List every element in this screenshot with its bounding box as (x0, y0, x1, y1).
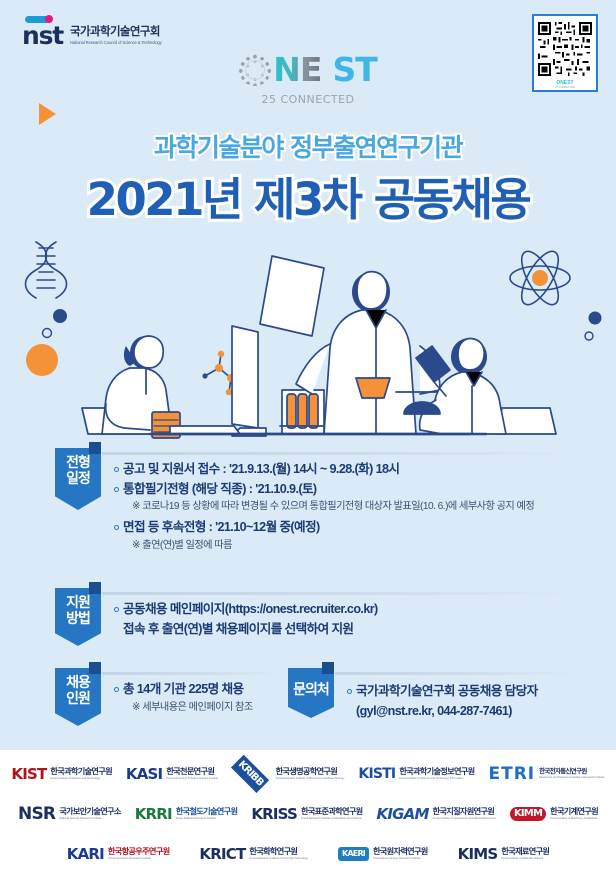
partner-logo: NSR국가보안기술연구소National Security Research I… (18, 806, 121, 823)
poster-canvas: nst 국가과학기술연구회 National Research Council … (0, 0, 616, 875)
ribbon-line1: 지원 (55, 595, 101, 611)
poster-subtitle: 과학기술분야 정부출연연구기관 (0, 128, 616, 164)
partner-abbr: KISTI (358, 767, 395, 781)
note-text: ※ 세부내용은 메인페이지 참조 (132, 700, 294, 716)
partner-abbr: KIMM (510, 807, 546, 821)
list-item-text: 공고 및 지원서 접수 : '21.9.13.(월) 14시 ~ 9.28.(화… (123, 460, 399, 480)
partner-abbr: KASI (126, 767, 162, 782)
logo-row-1: KIST한국과학기술연구원Korea Institute of Science … (0, 754, 616, 794)
bullet-icon (114, 687, 119, 692)
ribbon-badge-headcount: 채용 인원 (55, 668, 101, 726)
nst-wordmark: nst (22, 25, 63, 46)
laboratory-scientists-illustration (0, 228, 616, 440)
logo-row-2: NSR국가보안기술연구소National Security Research I… (0, 794, 616, 834)
qr-code-icon (538, 20, 592, 78)
section-divider (102, 672, 282, 675)
onest-dotted-circle-icon (239, 54, 271, 86)
nst-en-title: National Research Council of Science & T… (70, 40, 162, 45)
partner-abbr: KIMS (458, 847, 498, 862)
partner-abbr: KARI (67, 847, 104, 862)
qr-code-box[interactable]: ONEST 25 CONNECTED (532, 14, 598, 92)
apply-items: 공동채용 메인페이지(https://onest.recruiter.co.kr… (114, 600, 574, 639)
ribbon-line1: 채용 (55, 675, 101, 691)
qr-caption-sub: 25 CONNECTED (538, 86, 592, 89)
onest-ne-text: NE (273, 50, 321, 89)
section-divider (102, 592, 575, 595)
partner-abbr: NSR (18, 806, 55, 823)
partner-logo: KISTI한국과학기술정보연구원Korea Institute of Scien… (358, 767, 474, 781)
list-item-text: 통합필기전형 (해당 직종) : '21.10.9.(토) (123, 480, 317, 500)
partner-en: Korea Atomic Energy Research Institute (373, 857, 428, 860)
partner-logo: KASI한국천문연구원Korea Astronomy & Space Scien… (126, 767, 218, 782)
list-item-text: 총 14개 기관 225명 채용 (123, 680, 244, 700)
partner-en: Korea Institute of Science and Technolog… (50, 777, 112, 780)
partner-abbr: KRISS (251, 807, 297, 822)
poster-title: 2021년 제3차 공동채용 (0, 163, 616, 228)
ribbon-line2: 일정 (55, 471, 101, 487)
partner-abbr: KIST (11, 767, 46, 782)
partner-logo: KARI한국항공우주연구원Korea Aerospace Research In… (67, 847, 170, 862)
bullet-icon (114, 607, 119, 612)
play-triangle-icon (39, 103, 56, 125)
partner-logo: KIMS한국재료연구원Korea Institute of Materials … (458, 847, 550, 862)
partner-en: Korea Research Institute of Standards an… (301, 817, 363, 820)
note-text: ※ 코로나19 등 상황에 따라 변경될 수 있으며 통합필기전형 대상자 발표… (132, 499, 574, 515)
partner-abbr: ETRI (488, 766, 535, 783)
partner-abbr: KIGAM (377, 807, 429, 822)
partner-logo: KIMM한국기계연구원Korea Institute of Machinery … (510, 807, 598, 821)
logo-row-3: KARI한국항공우주연구원Korea Aerospace Research In… (0, 834, 616, 874)
apply-url-text[interactable]: 공동채용 메인페이지(https://onest.recruiter.co.kr… (123, 600, 378, 620)
partner-logo: KRRI한국철도기술연구원Korea Railroad Research Ins… (135, 807, 238, 822)
partner-en: Korea Railroad Research Institute (176, 817, 238, 820)
partner-en: Korea Institute of Science and Technolog… (399, 777, 474, 780)
bullet-icon (114, 467, 119, 472)
ribbon-badge-contact: 문의처 (288, 668, 334, 718)
partner-en: National Security Research Institute (59, 817, 121, 820)
partner-logo: KRICT한국화학연구원Korea Research Institute of … (199, 847, 308, 862)
nst-korean-name: 국가과학기술연구회 National Research Council of S… (70, 23, 162, 46)
partner-en: Electronics and Telecommunications Resea… (539, 776, 605, 779)
contact-details-text[interactable]: (gyl@nst.re.kr, 044-287-7461) (356, 702, 577, 722)
nst-kr-title: 국가과학기술연구회 (70, 23, 162, 39)
onest-tagline: 25 CONNECTED (0, 93, 616, 106)
partner-en: Korea Astronomy & Space Science Institut… (166, 777, 218, 780)
list-item: 면접 등 후속전형 : '21.10~12월 중(예정) (114, 518, 574, 538)
ribbon-badge-apply: 지원 방법 (55, 588, 101, 646)
partner-en: Korea Institute of Machinery & Materials (550, 817, 598, 820)
nst-pill-icon (25, 16, 51, 23)
bullet-icon (114, 487, 119, 492)
ribbon-badge-schedule: 전형 일정 (55, 448, 101, 510)
partner-logo: KRISS한국표준과학연구원Korea Research Institute o… (251, 807, 362, 822)
bullet-icon (347, 689, 352, 694)
ribbon-line1: 전형 (55, 455, 101, 471)
schedule-items: 공고 및 지원서 접수 : '21.9.13.(월) 14시 ~ 9.28.(화… (114, 460, 574, 554)
partner-abbr: KRRI (135, 807, 172, 822)
list-item-text: 면접 등 후속전형 : '21.10~12월 중(예정) (123, 518, 320, 538)
ribbon-line1: 문의처 (288, 682, 334, 698)
ribbon-line2: 인원 (55, 691, 101, 707)
molecule-icon (205, 354, 231, 392)
nst-mark: nst (22, 16, 63, 46)
list-item[interactable]: 공동채용 메인페이지(https://onest.recruiter.co.kr… (114, 600, 574, 620)
onest-wordmark: NE ST (239, 50, 376, 89)
ribbon-line2: 방법 (55, 611, 101, 627)
list-item-text: 국가과학기술연구회 공동채용 담당자 (356, 682, 538, 702)
partner-logo: KIST한국과학기술연구원Korea Institute of Science … (11, 767, 112, 782)
nst-logo: nst 국가과학기술연구회 National Research Council … (22, 16, 162, 46)
partner-en: Korea Institute of Materials Science (501, 857, 549, 860)
partner-logos-footer: KIST한국과학기술연구원Korea Institute of Science … (0, 750, 616, 875)
partner-en: Korea Research Institute of Bioscience a… (276, 777, 345, 780)
list-item: 통합필기전형 (해당 직종) : '21.10.9.(토) (114, 480, 574, 500)
partner-abbr: KRIBB (231, 755, 269, 793)
partner-abbr: KRICT (199, 847, 245, 862)
partner-abbr: KAERI (338, 847, 369, 861)
partner-logo: KIGAM한국지질자원연구원Korea Institute of Geoscie… (377, 807, 496, 822)
list-item: 총 14개 기관 225명 채용 (114, 680, 294, 700)
onest-logo: NE ST 25 CONNECTED (0, 50, 616, 106)
partner-logo: ETRI한국전자통신연구원Electronics and Telecommuni… (488, 766, 604, 783)
partner-logo: KAERI한국원자력연구원Korea Atomic Energy Researc… (338, 847, 428, 861)
section-divider (102, 452, 575, 455)
list-item-continuation: 접속 후 출연(연)별 채용페이지를 선택하여 지원 (123, 620, 574, 640)
list-item: 공고 및 지원서 접수 : '21.9.13.(월) 14시 ~ 9.28.(화… (114, 460, 574, 480)
partner-en: Korea Institute of Geoscience and Minera… (433, 817, 496, 820)
headcount-items: 총 14개 기관 225명 채용 ※ 세부내용은 메인페이지 참조 (114, 680, 294, 716)
bullet-icon (114, 525, 119, 530)
partner-logo: KRIBB한국생명공학연구원Korea Research Institute o… (232, 765, 344, 783)
dna-helix-icon (26, 242, 67, 298)
partner-en: Korea Aerospace Research Institute (108, 857, 170, 860)
section-divider (335, 672, 575, 675)
onest-st-text: ST (332, 50, 376, 89)
note-text: ※ 출연(연)별 일정에 따름 (132, 538, 574, 554)
contact-items: 국가과학기술연구회 공동채용 담당자 (gyl@nst.re.kr, 044-2… (347, 682, 577, 721)
list-item: 국가과학기술연구회 공동채용 담당자 (347, 682, 577, 702)
partner-en: Korea Research Institute of Chemical Tec… (249, 857, 308, 860)
